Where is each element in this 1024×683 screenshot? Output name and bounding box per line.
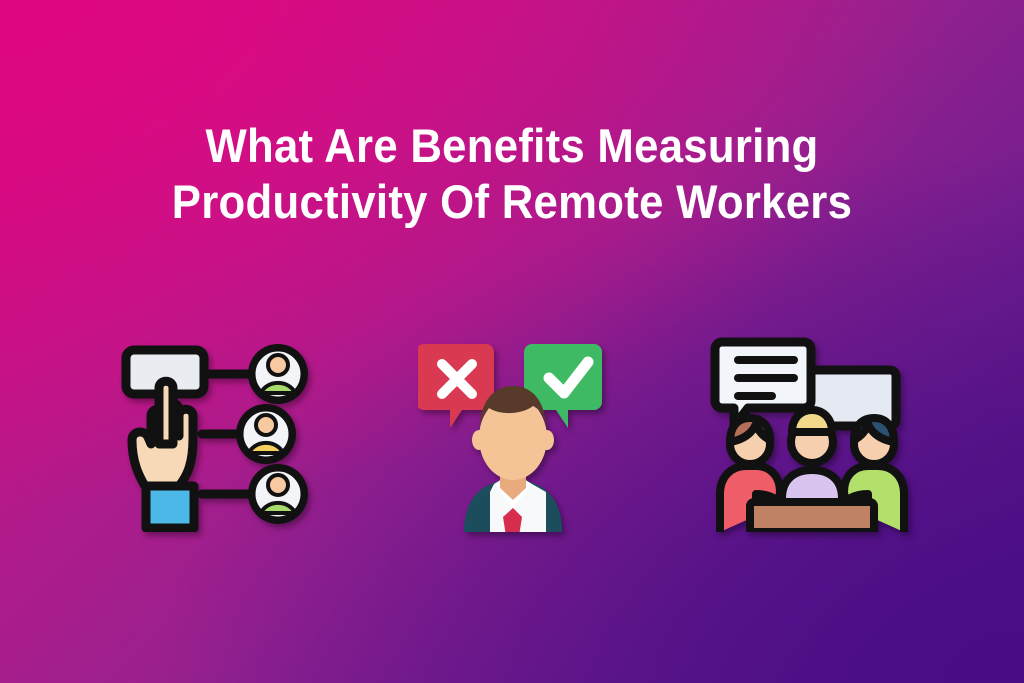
team-meeting-glyph (708, 336, 916, 532)
approval-decision-icon (418, 336, 608, 532)
page-title: What Are Benefits Measuring Productivity… (0, 118, 1024, 230)
task-delegation-icon (120, 336, 310, 532)
task-delegation-glyph (120, 336, 310, 532)
team-meeting-icon (708, 336, 916, 532)
avatar-top (248, 344, 308, 404)
icon-row (0, 336, 1024, 536)
approval-decision-glyph (418, 336, 608, 532)
avatar-middle (236, 404, 296, 464)
page-title-line-1: What Are Benefits Measuring (73, 118, 951, 174)
banner-background: What Are Benefits Measuring Productivity… (0, 0, 1024, 683)
avatar-bottom (248, 464, 308, 524)
page-title-line-2: Productivity Of Remote Workers (73, 174, 951, 230)
